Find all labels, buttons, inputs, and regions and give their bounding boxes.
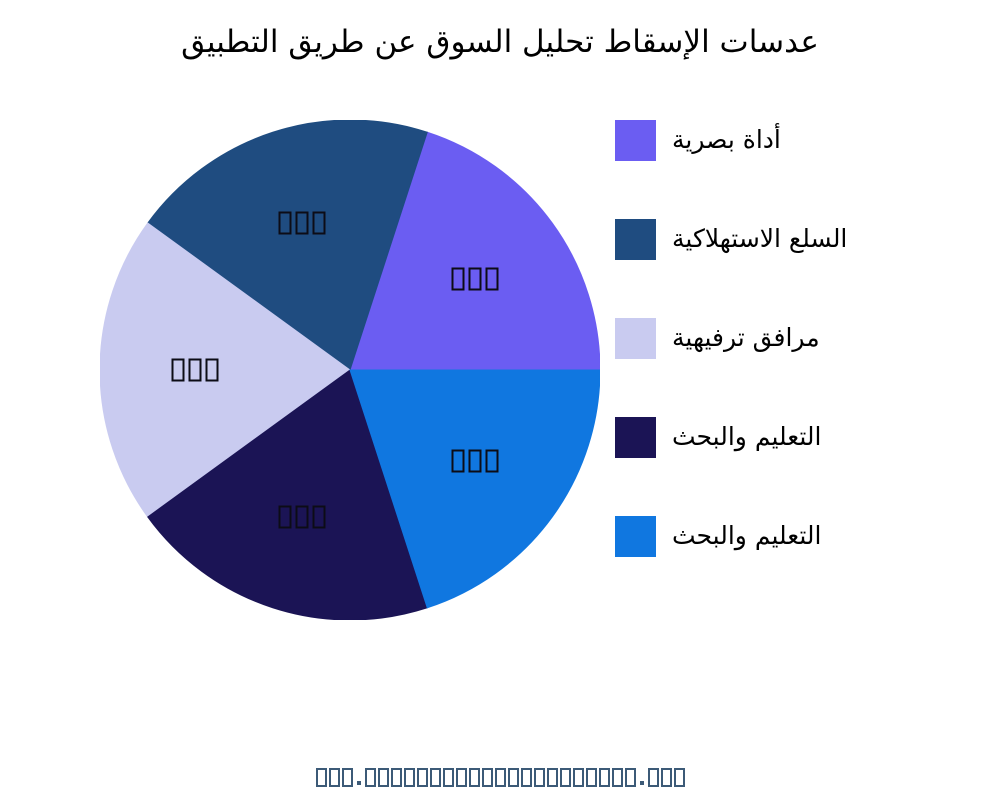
legend-color-swatch bbox=[615, 219, 656, 260]
missing-glyph-box bbox=[674, 768, 685, 787]
missing-glyph-box bbox=[599, 768, 610, 787]
missing-glyph-box bbox=[316, 768, 327, 787]
chart-title: عدسات الإسقاط تحليل السوق عن طريق التطبي… bbox=[0, 22, 1000, 62]
watermark-dot bbox=[640, 781, 644, 785]
missing-glyph-box bbox=[342, 768, 353, 787]
legend-item[interactable]: مرافق ترفيهية bbox=[615, 316, 1000, 360]
missing-glyph-box bbox=[547, 768, 558, 787]
missing-glyph-box bbox=[456, 768, 467, 787]
legend-item-label: السلع الاستهلاكية bbox=[672, 224, 847, 254]
missing-glyph-box bbox=[661, 768, 672, 787]
missing-glyph-box bbox=[625, 768, 636, 787]
missing-glyph-box bbox=[469, 768, 480, 787]
missing-glyph-box bbox=[430, 768, 441, 787]
missing-glyph-box bbox=[586, 768, 597, 787]
missing-glyph-box bbox=[443, 768, 454, 787]
missing-glyph-box bbox=[534, 768, 545, 787]
missing-glyph-box bbox=[521, 768, 532, 787]
legend-color-swatch bbox=[615, 318, 656, 359]
watermark-url bbox=[0, 768, 1000, 787]
missing-glyph-box bbox=[404, 768, 415, 787]
pie-chart-figure: عدسات الإسقاط تحليل السوق عن طريق التطبي… bbox=[0, 0, 1000, 800]
legend-item-label: أداة بصرية bbox=[672, 125, 781, 155]
missing-glyph-box bbox=[417, 768, 428, 787]
legend-item-label: مرافق ترفيهية bbox=[672, 323, 820, 353]
legend-color-swatch bbox=[615, 417, 656, 458]
missing-glyph-box bbox=[365, 768, 376, 787]
missing-glyph-box bbox=[508, 768, 519, 787]
missing-glyph-box bbox=[560, 768, 571, 787]
legend-item[interactable]: أداة بصرية bbox=[615, 118, 1000, 162]
missing-glyph-box bbox=[648, 768, 659, 787]
missing-glyph-box bbox=[378, 768, 389, 787]
legend-color-swatch bbox=[615, 516, 656, 557]
legend: أداة بصريةالسلع الاستهلاكيةمرافق ترفيهية… bbox=[615, 118, 1000, 588]
pie-plot-area bbox=[100, 120, 600, 620]
missing-glyph-box bbox=[612, 768, 623, 787]
missing-glyph-box bbox=[573, 768, 584, 787]
pie-slices bbox=[100, 120, 600, 620]
pie-svg bbox=[100, 120, 600, 620]
legend-item-label: التعليم والبحث bbox=[672, 521, 821, 551]
legend-item[interactable]: التعليم والبحث bbox=[615, 514, 1000, 558]
legend-item-label: التعليم والبحث bbox=[672, 422, 821, 452]
missing-glyph-box bbox=[329, 768, 340, 787]
legend-item[interactable]: التعليم والبحث bbox=[615, 415, 1000, 459]
missing-glyph-box bbox=[482, 768, 493, 787]
watermark-dot bbox=[357, 781, 361, 785]
missing-glyph-box bbox=[391, 768, 402, 787]
missing-glyph-box bbox=[495, 768, 506, 787]
legend-color-swatch bbox=[615, 120, 656, 161]
legend-item[interactable]: السلع الاستهلاكية bbox=[615, 217, 1000, 261]
